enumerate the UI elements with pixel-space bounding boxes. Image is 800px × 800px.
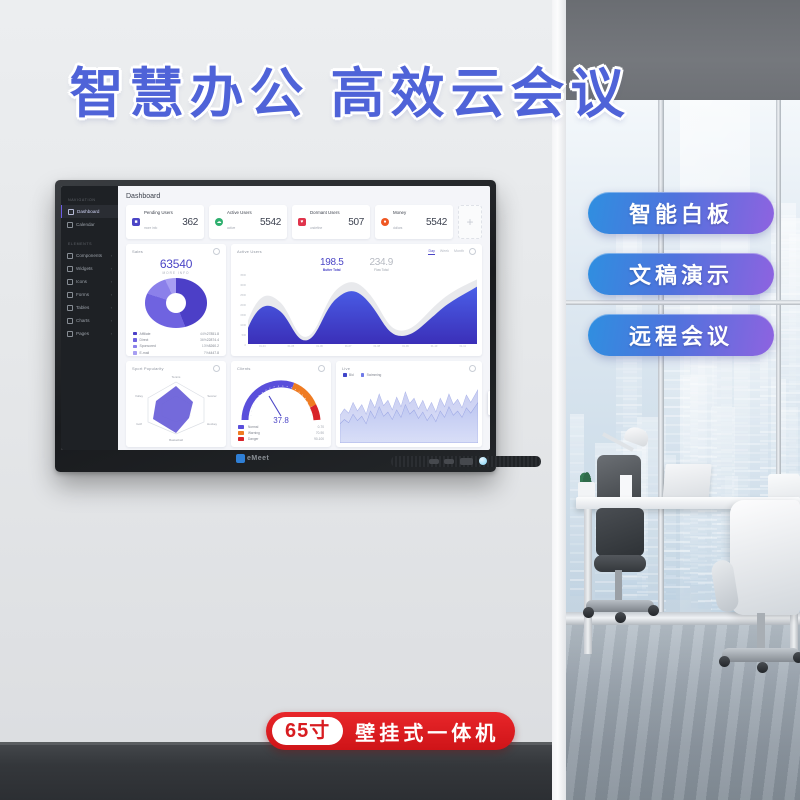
stat-card-active-users[interactable]: ☁ Active Users active 5542: [209, 205, 287, 239]
feature-pill-whiteboard[interactable]: 智能白板: [588, 192, 774, 234]
gear-icon[interactable]: [469, 365, 476, 372]
stat-card-pending-users[interactable]: ■ Pending Users more info 362: [126, 205, 204, 239]
x-tick: 01-11: [459, 345, 465, 348]
radar-chart-svg: [126, 372, 226, 436]
active-users-card: Active Users Day Week Month: [231, 244, 482, 356]
radar-card: Sport Popularity Tennis Soccer: [126, 361, 226, 447]
legend-row-email: E-mail 7% 4447.8: [126, 350, 226, 356]
sales-card-title: Sales: [132, 249, 143, 254]
legend-label: Sponsored: [140, 344, 156, 348]
product-banner: 65寸 壁挂式一体机: [266, 712, 515, 750]
sidebar-item-label: Widgets: [76, 266, 93, 271]
wall-mounted-display: NAVIGATION Dashboard Calendar ELEMENTS C…: [55, 180, 496, 472]
gauge-chart: 37.8: [231, 372, 331, 424]
pages-icon: [67, 331, 73, 337]
white-chair-back: [730, 500, 800, 615]
dashboard-app: NAVIGATION Dashboard Calendar ELEMENTS C…: [61, 186, 490, 450]
dashboard-main: Dashboard ■ Pending Users more info 362: [118, 186, 490, 450]
active-users-title: Active Users: [237, 249, 262, 254]
chair-caster: [615, 612, 626, 623]
sidebar-item-tables[interactable]: Tables ›: [61, 301, 118, 314]
sidebar-item-components[interactable]: Components ›: [61, 249, 118, 262]
radar-axis-tennis: Tennis: [172, 375, 181, 379]
legend-value: 27851.8: [207, 332, 219, 336]
gauge-card: Clients: [231, 361, 331, 447]
chair-caster: [648, 605, 659, 616]
range-tabs: Day Week Month: [428, 248, 476, 255]
brand-name: eMeet: [247, 455, 269, 462]
x-tick: 01-06: [316, 345, 323, 348]
gauge-card-header: Clients: [231, 361, 331, 372]
brand-logo: eMeet: [236, 454, 269, 463]
desk-leg: [584, 509, 592, 654]
chart-icon: [67, 318, 73, 324]
gauge-legend-range: 90-100: [314, 437, 324, 441]
radar-card-header: Sport Popularity: [126, 361, 226, 372]
x-tick: 01-09: [402, 345, 409, 348]
stat-card-dormant-users[interactable]: ♥ Dormant Users undefine 507: [292, 205, 370, 239]
sales-card: Sales 63540 MORE INFO Affiliate 44% 2785…: [126, 244, 226, 356]
live-legend-label: Bid: [349, 373, 354, 377]
radar-axis-volley: Volley: [135, 394, 143, 398]
gauge-legend-label: Warning: [248, 431, 260, 435]
chair-caster: [719, 656, 730, 667]
legend-percent: 13%: [202, 344, 209, 348]
stat-sublabel: more info: [144, 226, 157, 230]
live-chart-svg: [340, 379, 478, 443]
add-card-button[interactable]: +: [458, 205, 482, 239]
live-legend-label: Swimming: [367, 373, 382, 377]
sidebar-section-elements: ELEMENTS: [61, 238, 118, 249]
coin-icon: ●: [381, 218, 389, 226]
usb-port[interactable]: [444, 459, 454, 464]
x-axis-ticks: 01-0401-0501-0601-0701-0801-0901-1001-11: [248, 345, 477, 353]
sales-total: 63540: [126, 257, 226, 271]
office-chair-base: [586, 600, 654, 612]
radar-axis-hockey: Hockey: [207, 422, 217, 426]
sidebar-item-forms[interactable]: Forms ›: [61, 288, 118, 301]
feature-pill-remote-meeting[interactable]: 远程会议: [588, 314, 774, 356]
usb-port[interactable]: [429, 459, 439, 464]
dashboard-sidebar: NAVIGATION Dashboard Calendar ELEMENTS C…: [61, 186, 118, 450]
y-tick: 0: [245, 344, 246, 347]
sidebar-item-calendar[interactable]: Calendar: [61, 218, 118, 231]
form-icon: [67, 292, 73, 298]
stat-card-row: ■ Pending Users more info 362 ☁ Active U…: [126, 205, 482, 239]
radar-axis-golf: Golf: [136, 422, 142, 426]
cloud-icon: ☁: [215, 218, 223, 226]
legend-value: 4447.8: [209, 351, 219, 355]
y-tick: 3000: [240, 284, 246, 287]
legend-percent: 44%: [200, 332, 207, 336]
tab-week[interactable]: Week: [440, 249, 449, 254]
sales-donut-chart: [145, 278, 207, 328]
stat-value: 5542: [260, 217, 281, 228]
components-icon: [67, 253, 73, 259]
gauge-legend-range: 0-70: [318, 425, 324, 429]
widgets-icon: [67, 266, 73, 272]
sidebar-item-label: Icons: [76, 279, 87, 284]
chevron-right-icon: ›: [111, 280, 112, 284]
y-tick: 2500: [240, 294, 246, 297]
stat-card-money[interactable]: ● Money dollars 5542: [375, 205, 453, 239]
stat-sublabel: undefine: [310, 226, 322, 230]
active-users-header: Active Users Day Week Month: [231, 244, 482, 255]
table-icon: [67, 305, 73, 311]
radar-chart: Tennis Soccer Hockey Basketball Golf Vol…: [126, 372, 226, 436]
active-users-area-chart: 3500300025002000150010005000: [236, 274, 477, 353]
chevron-right-icon: ›: [111, 332, 112, 336]
sidebar-item-charts[interactable]: Charts ›: [61, 314, 118, 327]
flow-total-label: Flow Total: [370, 268, 394, 272]
stat-label: Pending Users: [144, 210, 173, 216]
live-card-title: Live: [342, 366, 350, 371]
gear-icon[interactable]: [213, 365, 220, 372]
sidebar-item-label: Calendar: [76, 222, 95, 227]
sidebar-item-label: Dashboard: [77, 209, 99, 214]
radar-card-title: Sport Popularity: [132, 366, 164, 371]
sidebar-item-label: Pages: [76, 331, 89, 336]
tab-month[interactable]: Month: [454, 249, 464, 254]
chevron-right-icon: ›: [111, 267, 112, 271]
hdmi-port[interactable]: [460, 458, 473, 465]
chair-caster: [793, 652, 800, 663]
stat-label: Active Users: [227, 210, 252, 216]
radar-axis-basketball: Basketball: [169, 438, 183, 442]
y-tick: 1000: [240, 324, 246, 327]
y-tick: 3500: [240, 274, 246, 277]
tab-day[interactable]: Day: [428, 249, 434, 255]
stat-label: Dormant Users: [310, 210, 340, 216]
star-icon: [67, 279, 73, 285]
page-title: Dashboard: [126, 193, 482, 200]
gauge-legend-range: 70-90: [316, 431, 324, 435]
chevron-right-icon: ›: [111, 319, 112, 323]
gauge-legend-label: Normal: [248, 425, 258, 429]
y-tick: 500: [242, 334, 246, 337]
x-tick: 01-08: [373, 345, 380, 348]
gauge-value: 37.8: [273, 416, 289, 425]
stat-sublabel: dollars: [393, 226, 402, 230]
butter-total-value: 198.5: [320, 257, 344, 268]
legend-label: Affiliate: [140, 332, 151, 336]
banner-size-badge: 65寸: [272, 717, 343, 745]
sales-subtitle: MORE INFO: [126, 271, 226, 275]
gauge-legend-label: Danger: [248, 437, 258, 441]
legend-percent: 36%: [200, 338, 207, 342]
chevron-right-icon: ›: [111, 293, 112, 297]
sidebar-item-label: Charts: [76, 318, 90, 323]
feature-pill-presentation[interactable]: 文稿演示: [588, 253, 774, 295]
calendar-icon: [67, 222, 73, 228]
white-chair-base: [722, 648, 800, 662]
office-chair-mesh: [596, 508, 644, 556]
banner-text: 壁挂式一体机: [355, 717, 499, 746]
live-legend-swimming: Swimming: [361, 373, 382, 377]
gear-icon[interactable]: [469, 248, 476, 255]
live-card-header: Live: [336, 361, 482, 372]
x-tick: 01-05: [288, 345, 295, 348]
butter-total-label: Butter Total: [320, 268, 344, 272]
feature-pill-list: 智能白板 文稿演示 远程会议: [588, 192, 774, 375]
widgets-row: Sport Popularity Tennis Soccer: [126, 361, 482, 447]
stat-value: 5542: [426, 217, 447, 228]
sidebar-item-dashboard[interactable]: Dashboard: [61, 205, 118, 218]
sidebar-item-pages[interactable]: Pages ›: [61, 327, 118, 340]
chevron-right-icon: ›: [111, 254, 112, 258]
sales-card-header: Sales: [126, 244, 226, 255]
legend-value: 22874.4: [207, 338, 219, 342]
sidebar-item-icons[interactable]: Icons ›: [61, 275, 118, 288]
chair-caster: [757, 662, 768, 673]
stat-value: 362: [182, 217, 198, 228]
gauge-legend-danger: Danger 90-100: [231, 436, 331, 442]
wall-side-floor: [0, 742, 560, 800]
active-users-totals: 198.5 Butter Total 234.9 Flow Total: [231, 257, 482, 272]
gauge-card-title: Clients: [237, 366, 251, 371]
chevron-right-icon: ›: [111, 306, 112, 310]
x-tick: 01-10: [431, 345, 438, 348]
y-axis-ticks: 3500300025002000150010005000: [236, 274, 247, 344]
live-legend-bid: Bid: [343, 373, 354, 377]
legend-label: Direct: [140, 338, 149, 342]
stat-sublabel: active: [227, 226, 235, 230]
x-tick: 01-07: [345, 345, 352, 348]
gear-icon[interactable]: [213, 248, 220, 255]
live-area-chart: Bid 7318.4 Swimming 5981.7: [340, 379, 478, 443]
flow-total-value: 234.9: [370, 257, 394, 268]
display-bottom-bezel: eMeet: [61, 450, 490, 472]
area-chart-svg: [248, 274, 477, 344]
brand-mark-icon: [236, 454, 245, 463]
sidebar-item-label: Tables: [76, 305, 89, 310]
sidebar-item-widgets[interactable]: Widgets ›: [61, 262, 118, 275]
charts-row-top: Sales 63540 MORE INFO Affiliate 44% 2785…: [126, 244, 482, 356]
gear-icon[interactable]: [318, 365, 325, 372]
power-indicator-icon[interactable]: [479, 457, 487, 465]
poster-canvas: 智慧办公 高效云会议 智能白板 文稿演示 远程会议 NAVIGATION Das…: [0, 0, 800, 800]
home-icon: [68, 209, 74, 215]
chair-caster: [583, 607, 594, 618]
display-screen: NAVIGATION Dashboard Calendar ELEMENTS C…: [61, 186, 490, 450]
live-card: Live Bid Swimming: [336, 361, 482, 447]
live-legend: Bid Swimming: [336, 372, 482, 377]
sidebar-section-navigation: NAVIGATION: [61, 194, 118, 205]
y-tick: 1500: [240, 314, 246, 317]
radar-axis-soccer: Soccer: [207, 394, 216, 398]
stat-label: Money: [393, 210, 406, 216]
heart-icon: ♥: [298, 218, 306, 226]
poster-headline: 智慧办公 高效云会议: [0, 62, 700, 126]
y-tick: 2000: [240, 304, 246, 307]
legend-label: E-mail: [140, 351, 150, 355]
live-chart-tooltip: Bid 7318.4 Swimming 5981.7: [488, 391, 490, 415]
area-plot: [248, 274, 477, 344]
sidebar-item-label: Forms: [76, 292, 89, 297]
x-tick: 01-04: [259, 345, 266, 348]
legend-value: 8260.2: [209, 344, 219, 348]
sidebar-item-label: Components: [76, 253, 102, 258]
stat-value: 507: [348, 217, 364, 228]
flag-icon: ■: [132, 218, 140, 226]
